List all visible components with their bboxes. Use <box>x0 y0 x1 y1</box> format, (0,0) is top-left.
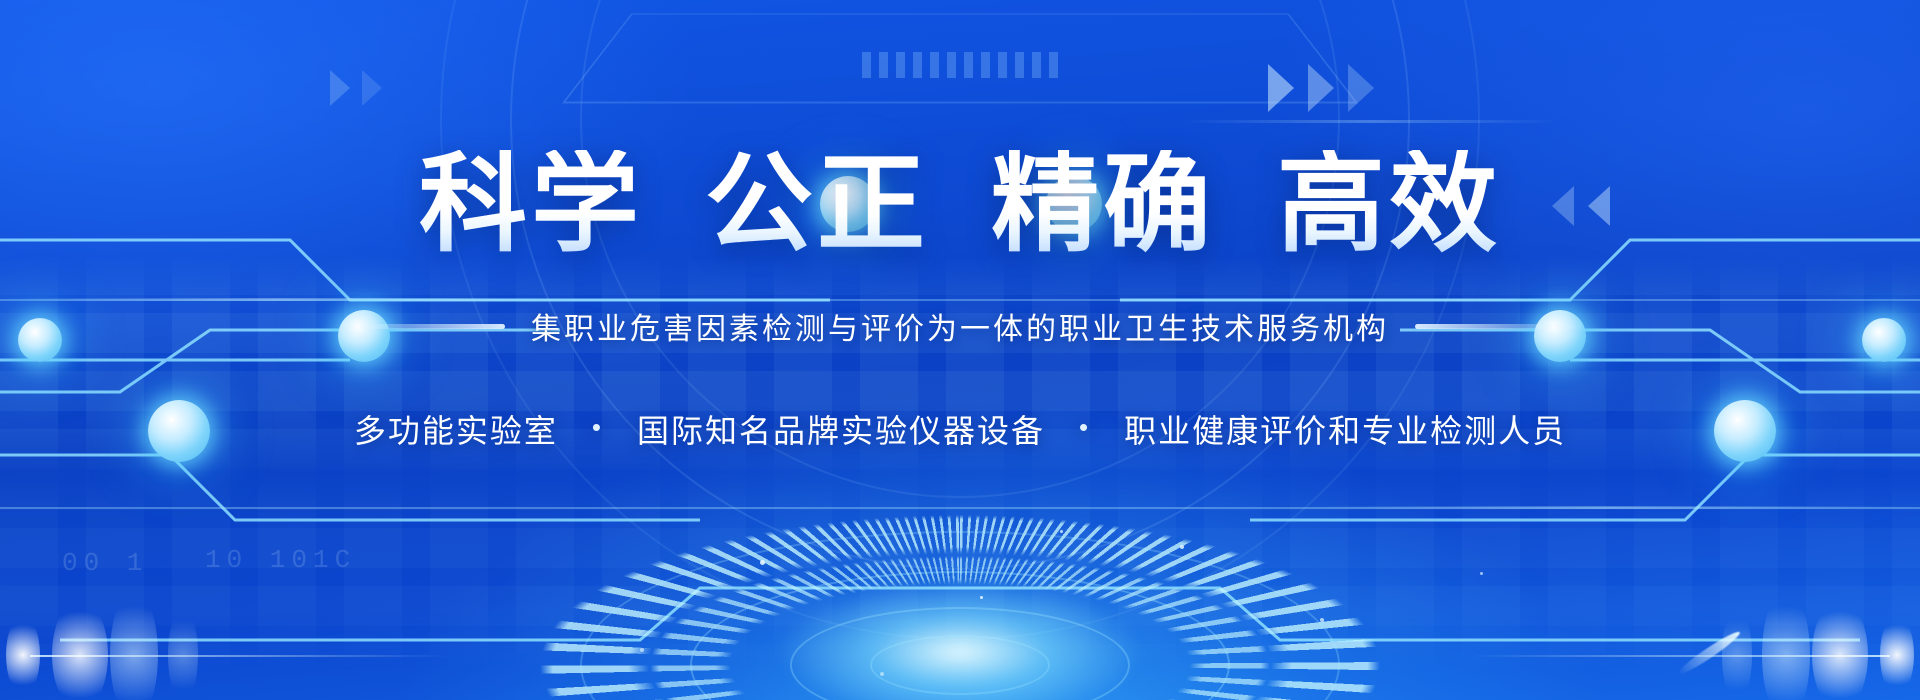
feature-item-1: 多功能实验室 <box>354 406 558 452</box>
headline-word-1: 科学 <box>419 150 643 258</box>
subtitle-row: 集职业危害因素检测与评价为一体的职业卫生技术服务机构 <box>337 304 1583 348</box>
hero-banner: 00 1 10 101C 科学 公正 精确 高效 集职业危害因素检测与评价为一体… <box>0 0 1920 700</box>
headline-word-3: 精确 <box>991 150 1215 258</box>
feature-separator: • <box>592 414 603 440</box>
feature-item-3: 职业健康评价和专业检测人员 <box>1124 406 1566 452</box>
headline-word-4: 高效 <box>1277 150 1501 258</box>
feature-item-2: 国际知名品牌实验仪器设备 <box>637 406 1045 452</box>
banner-content: 科学 公正 精确 高效 集职业危害因素检测与评价为一体的职业卫生技术服务机构 多… <box>0 0 1920 700</box>
feature-separator: • <box>1079 414 1090 440</box>
divider-right <box>1415 324 1583 329</box>
page-title: 科学 公正 精确 高效 <box>419 150 1501 258</box>
divider-left <box>337 324 505 329</box>
feature-list: 多功能实验室 • 国际知名品牌实验仪器设备 • 职业健康评价和专业检测人员 <box>354 406 1566 452</box>
headline-word-2: 公正 <box>705 150 929 258</box>
subtitle-text: 集职业危害因素检测与评价为一体的职业卫生技术服务机构 <box>531 304 1389 348</box>
